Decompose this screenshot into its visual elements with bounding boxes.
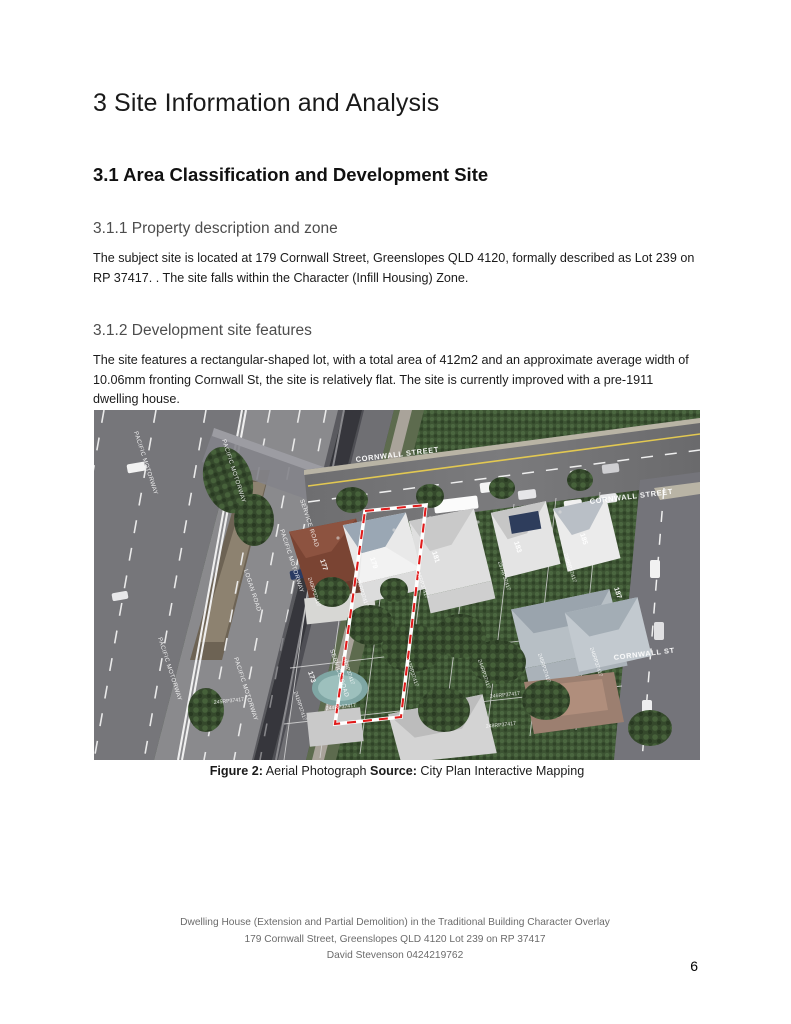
figure-caption-source-value: City Plan Interactive Mapping — [417, 764, 584, 778]
figure-caption-label: Figure 2: — [210, 764, 263, 778]
figure-caption-source-label: Source: — [370, 764, 417, 778]
section-heading-3-1: 3.1 Area Classification and Development … — [93, 163, 701, 186]
footer-line-1: Dwelling House (Extension and Partial De… — [95, 915, 695, 932]
footer-line-3: David Stevenson 0424219762 — [95, 948, 695, 965]
subsection-heading-3-1-2: 3.1.2 Development site features — [93, 321, 701, 341]
page-number: 6 — [690, 958, 698, 974]
subsection-heading-3-1-1: 3.1.1 Property description and zone — [93, 219, 701, 239]
document-page: 3 Site Information and Analysis 3.1 Area… — [0, 0, 791, 1024]
aerial-photograph: CORNWALL STREET CORNWALL STREET CORNWALL… — [94, 410, 700, 760]
aerial-photograph-graphic: CORNWALL STREET CORNWALL STREET CORNWALL… — [94, 410, 700, 760]
paragraph-site-features: The site features a rectangular-shaped l… — [93, 351, 701, 410]
figure-caption-title: Aerial Photograph — [263, 764, 370, 778]
footer-line-2: 179 Cornwall Street, Greenslopes QLD 412… — [95, 932, 695, 949]
document-content: 3 Site Information and Analysis 3.1 Area… — [93, 88, 701, 410]
paragraph-property-description: The subject site is located at 179 Cornw… — [93, 249, 701, 288]
page-title: 3 Site Information and Analysis — [93, 88, 701, 118]
figure-caption: Figure 2: Aerial Photograph Source: City… — [94, 764, 700, 778]
figure-2-container: CORNWALL STREET CORNWALL STREET CORNWALL… — [94, 410, 700, 760]
page-footer: Dwelling House (Extension and Partial De… — [95, 915, 695, 965]
